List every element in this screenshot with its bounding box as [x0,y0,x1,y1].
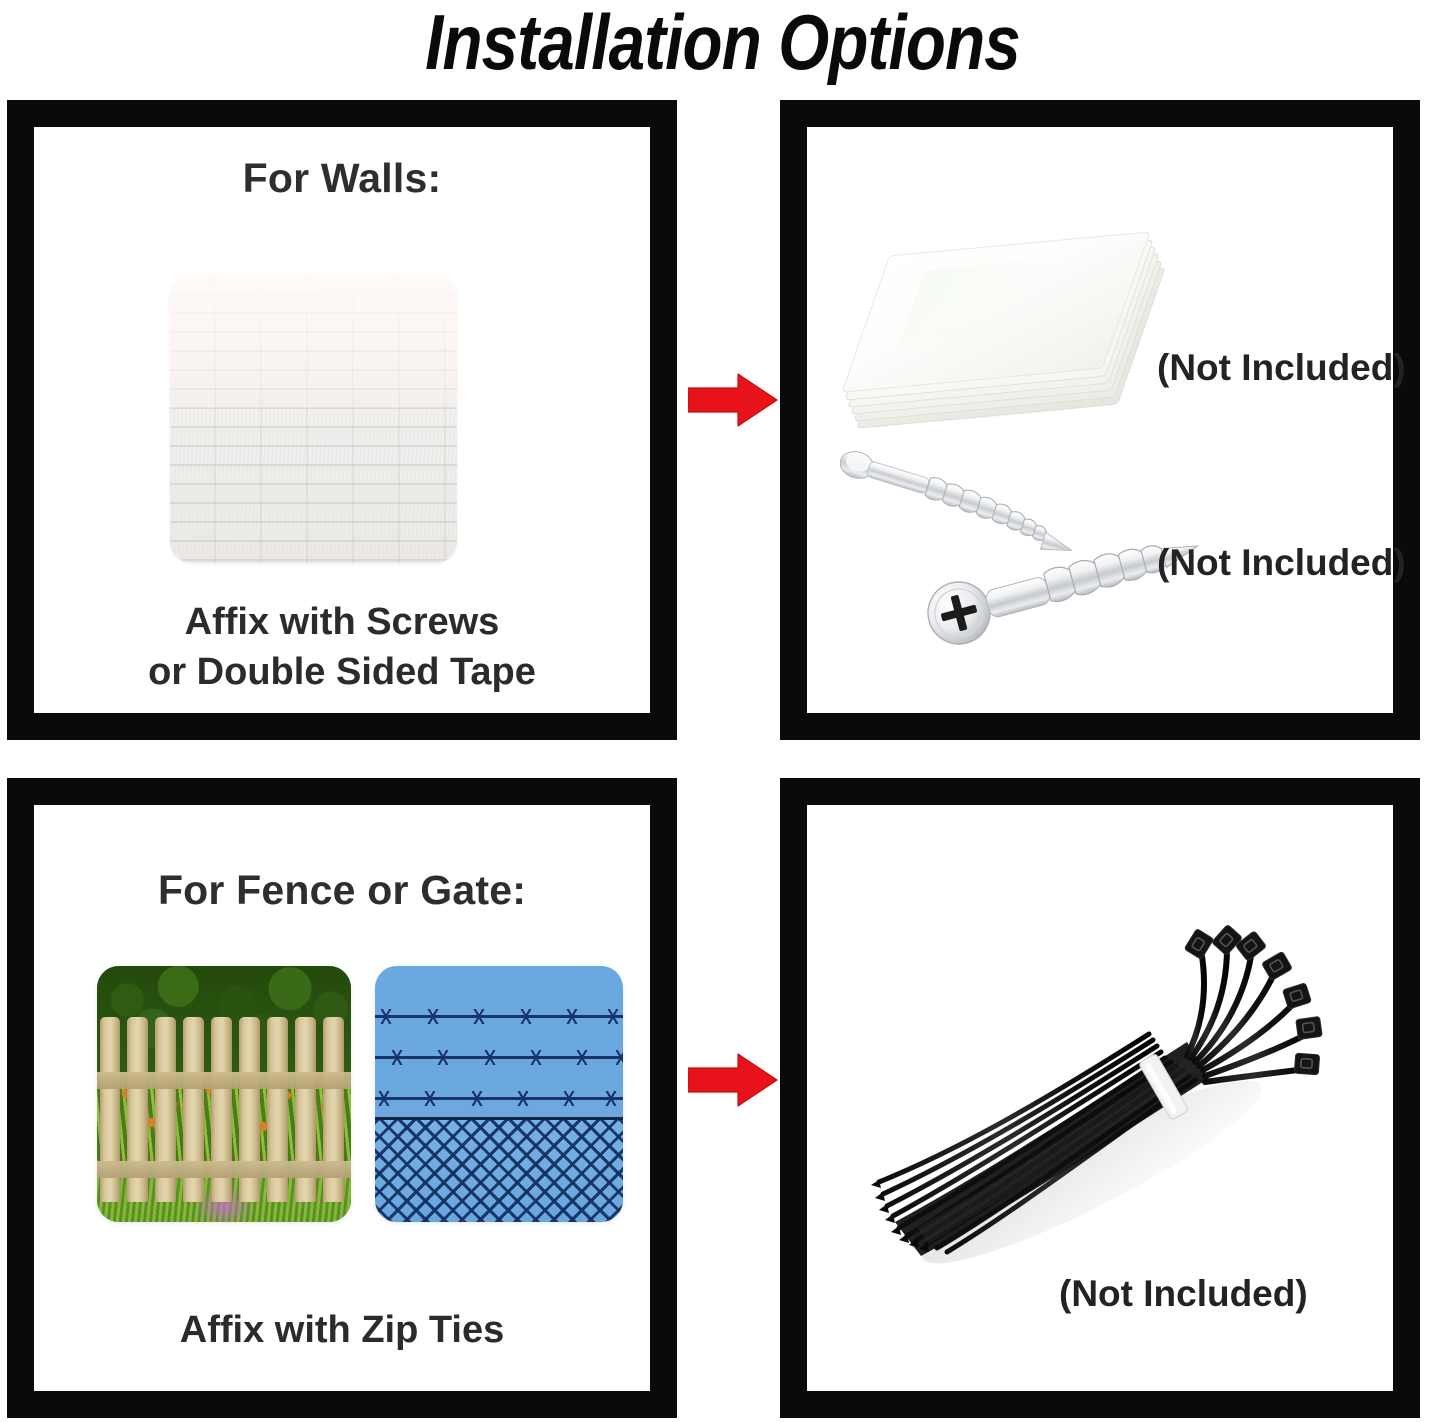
barbed-wire-strand [375,1056,623,1059]
wood-photo-pickets [97,1017,351,1201]
white-brick-wall-swatch [170,276,457,563]
panel-fence-hardware: (Not Included) [780,778,1420,1418]
screws-not-included-label: (Not Included) [1157,542,1406,584]
chain-link-mesh [375,1120,623,1222]
walls-caption-line-2: or Double Sided Tape [34,647,650,697]
for-fence-heading: For Fence or Gate: [34,867,650,914]
barbed-wire-strand [375,1015,623,1018]
panel-for-fence-or-gate: For Fence or Gate: [7,778,677,1418]
tape-not-included-label: (Not Included) [1157,347,1406,389]
page-title: Installation Options [116,0,1330,88]
barbed-wire-strand [375,1097,623,1100]
fence-caption-line-1: Affix with Zip Ties [34,1305,650,1355]
red-right-arrow-bottom [688,1052,778,1108]
panel-for-walls: For Walls: Affix with Screws or Double S… [7,100,677,740]
zip-ties-not-included-label: (Not Included) [1059,1273,1308,1315]
fence-caption: Affix with Zip Ties [34,1305,650,1355]
for-walls-heading: For Walls: [34,155,650,202]
chain-link-barbed-wire-fence-photo [375,966,623,1222]
walls-caption-line-1: Affix with Screws [34,597,650,647]
walls-caption: Affix with Screws or Double Sided Tape [34,597,650,697]
wall-highlight-wash [170,276,457,408]
wooden-picket-fence-photo [97,966,351,1222]
black-zip-ties-bundle [877,910,1317,1290]
panel-wall-hardware: (Not Included) [780,100,1420,740]
red-right-arrow-top [688,372,778,428]
double-sided-tape-stack [867,239,1167,439]
